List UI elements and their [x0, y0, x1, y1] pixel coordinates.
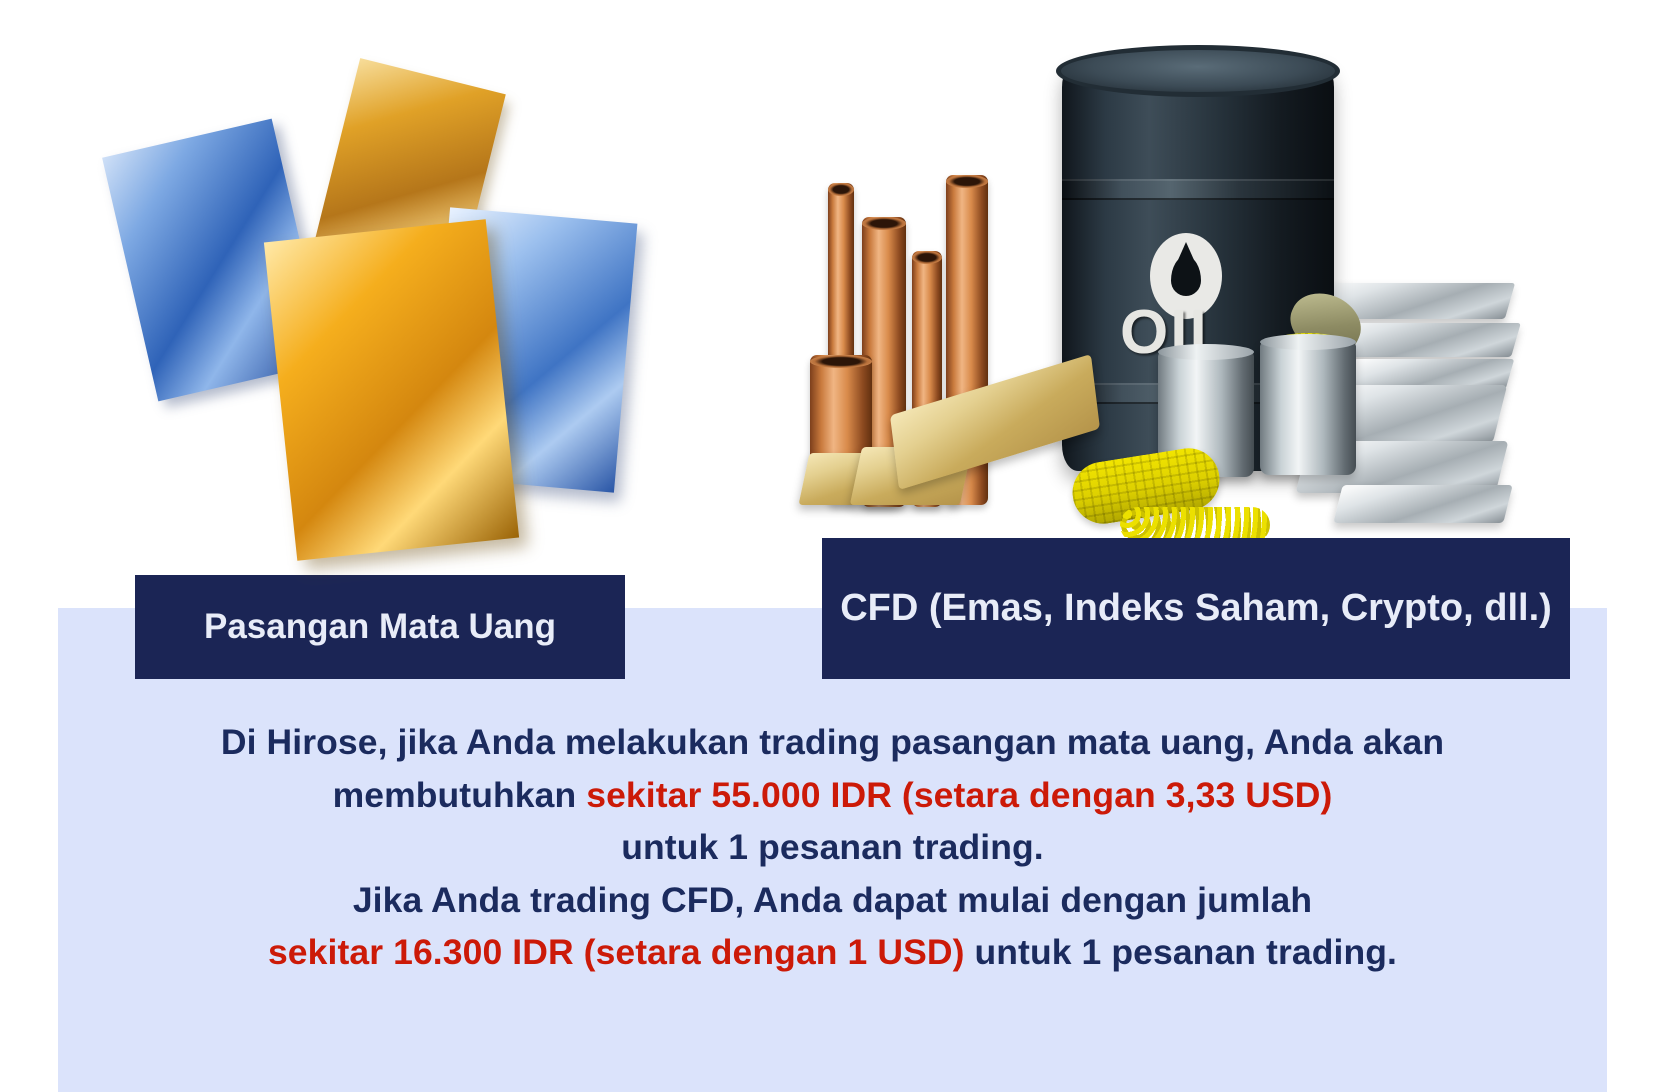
copy-line-4: Jika Anda trading CFD, Anda dapat mulai … [58, 874, 1607, 927]
copy-line-1: Di Hirose, jika Anda melakukan trading p… [58, 716, 1607, 769]
copy-line-3-text: untuk 1 pesanan trading. [621, 827, 1044, 867]
currency-symbols-illustration: ¥ € £ $ [120, 55, 620, 545]
body-copy: Di Hirose, jika Anda melakukan trading p… [58, 716, 1607, 979]
metal-can-icon [1260, 341, 1356, 475]
copy-line-5-highlight: sekitar 16.300 IDR (setara dengan 1 USD) [268, 932, 965, 972]
barrel-lid-icon [1056, 45, 1340, 97]
copy-line-5: sekitar 16.300 IDR (setara dengan 1 USD)… [58, 926, 1607, 979]
commodities-illustration: OIL [790, 55, 1510, 545]
copy-line-2-highlight: sekitar 55.000 IDR (setara dengan 3,33 U… [586, 775, 1332, 815]
copy-line-2: membutuhkan sekitar 55.000 IDR (setara d… [58, 769, 1607, 822]
copy-line-2-prefix: membutuhkan [333, 775, 587, 815]
copy-line-5-suffix: untuk 1 pesanan trading. [965, 932, 1398, 972]
label-currency-pairs: Pasangan Mata Uang [135, 575, 625, 679]
barrel-rib [1062, 179, 1334, 200]
copy-line-4-text: Jika Anda trading CFD, Anda dapat mulai … [353, 880, 1312, 920]
label-cfd: CFD (Emas, Indeks Saham, Crypto, dll.) [822, 538, 1570, 679]
copy-line-3: untuk 1 pesanan trading. [58, 821, 1607, 874]
artwork-row: ¥ € £ $ OIL [0, 0, 1664, 560]
silver-ingot-icon [1333, 485, 1512, 523]
dollar-symbol-icon: $ [264, 219, 519, 561]
copy-line-1-text: Di Hirose, jika Anda melakukan trading p… [221, 722, 1444, 762]
